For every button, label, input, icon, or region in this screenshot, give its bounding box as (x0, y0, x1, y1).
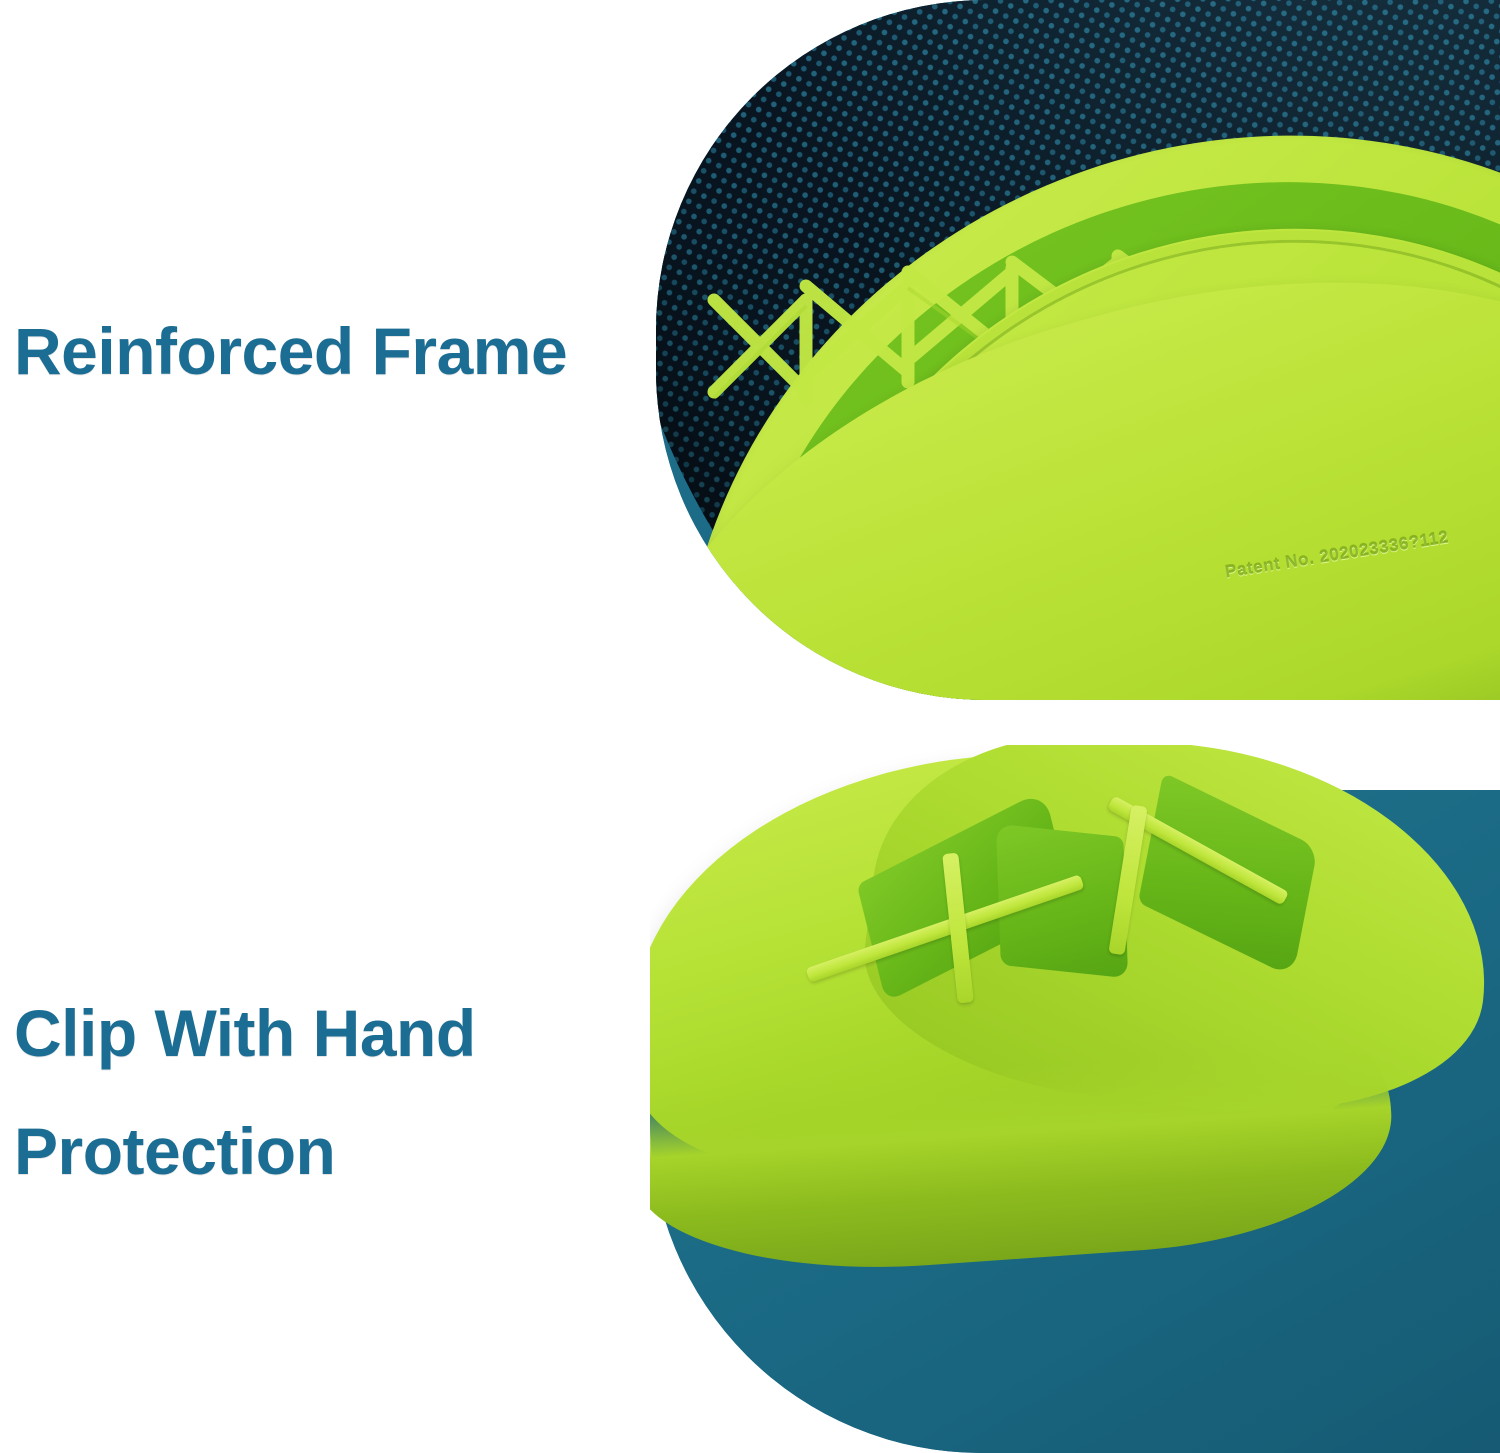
reinforced-frame-panel: Patent No. 202023336?112 (656, 0, 1500, 700)
hand-protection-heading-line2: Protection (14, 1118, 476, 1184)
hand-protection-heading-line1: Clip With Hand (14, 996, 476, 1070)
hand-protection-heading: Clip With Hand Protection (14, 1000, 476, 1184)
reinforced-frame-heading: Reinforced Frame (14, 318, 567, 384)
hand-protection-panel (650, 790, 1500, 1453)
infographic-canvas: Patent No. 202023336?112 Reinforced Fram… (0, 0, 1500, 1453)
teal-backdrop-bottom (650, 790, 1500, 1453)
